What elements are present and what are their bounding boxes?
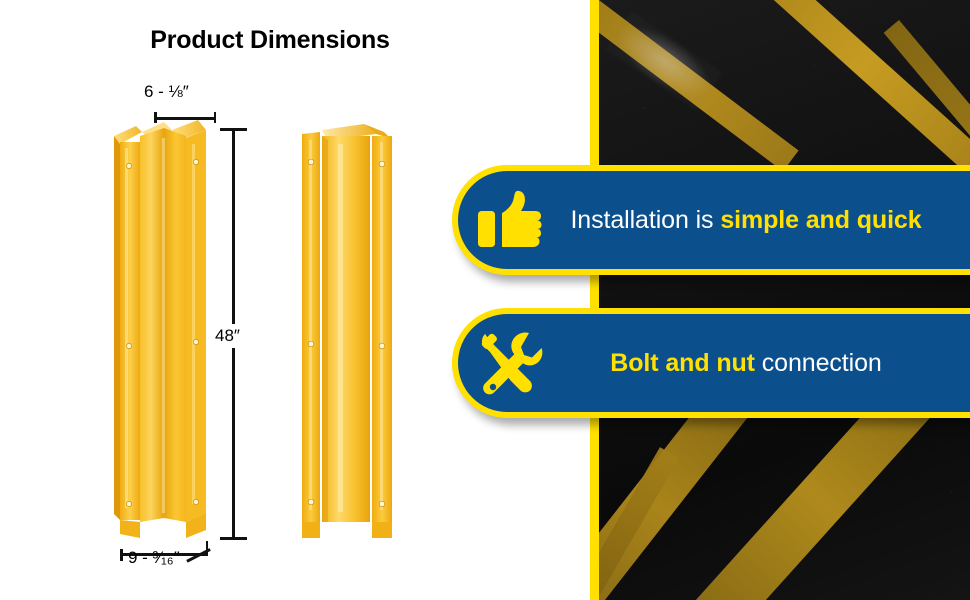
depth-dimension-label: 9 - ³⁄₁₆″	[128, 548, 180, 568]
wrench-screwdriver-icon	[458, 330, 562, 396]
bolt-hole	[308, 341, 314, 347]
left-column-guard	[112, 118, 210, 538]
infographic-canvas: Product Dimensions	[0, 0, 970, 600]
road-photo-panel	[590, 0, 970, 600]
bolt-hole	[126, 343, 131, 348]
left-guard-graphic	[112, 118, 210, 538]
banner-text-highlight: simple and quick	[720, 206, 921, 234]
bolt-hole	[126, 501, 131, 506]
banner-installation-text: Installation is simple and quick	[562, 206, 970, 235]
page-title: Product Dimensions	[0, 26, 540, 55]
banner-text-highlight: Bolt and nut	[610, 349, 755, 377]
width-dimension-label: 6 - ⅛″	[144, 82, 189, 102]
banner-text-plain: connection	[755, 349, 882, 377]
right-guard-graphic	[298, 118, 396, 538]
bolt-hole	[193, 339, 198, 344]
width-dimension-line	[154, 112, 216, 123]
bolt-hole	[126, 163, 131, 168]
bolt-hole	[193, 159, 198, 164]
right-column-guard	[298, 118, 396, 538]
thumbs-up-icon	[458, 189, 562, 251]
base-foot	[302, 522, 320, 538]
banner-text-plain: Installation is	[570, 206, 720, 234]
banner-bolt-text: Bolt and nut connection	[562, 349, 970, 378]
base-foot	[120, 520, 140, 538]
bolt-hole	[308, 159, 314, 165]
callout-banner-bolt-nut: Bolt and nut connection	[452, 308, 970, 418]
bolt-hole	[379, 161, 385, 167]
base-foot	[372, 522, 392, 538]
product-dimensions-panel: Product Dimensions	[0, 0, 588, 600]
bolt-hole	[379, 501, 385, 507]
bolt-hole	[379, 343, 385, 349]
callout-banner-installation: Installation is simple and quick	[452, 165, 970, 275]
bolt-hole	[193, 499, 198, 504]
height-dimension-label: 48″	[212, 324, 243, 348]
bolt-hole	[308, 499, 314, 505]
